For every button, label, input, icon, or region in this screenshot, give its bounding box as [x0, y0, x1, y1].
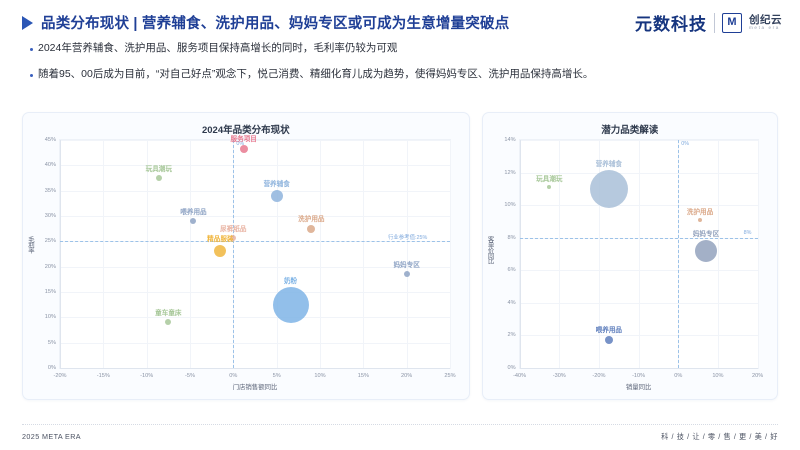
gridline-vertical [147, 140, 148, 368]
chart-card-distribution: 2024年品类分布现状 -20%-15%-10%-5%0%5%10%15%20%… [22, 112, 470, 400]
data-point-label: 洗护用品 [687, 206, 713, 216]
data-bubble [605, 336, 613, 344]
x-tick-label: 5% [273, 373, 281, 379]
reference-line-vertical [233, 140, 234, 368]
data-bubble [271, 190, 283, 202]
y-axis-line [60, 140, 61, 368]
data-bubble [590, 170, 628, 208]
x-tick-label: -20% [592, 373, 605, 379]
gridline-horizontal [60, 191, 450, 192]
data-point-label: 喂养用品 [180, 206, 206, 216]
y-tick-label: 40% [30, 162, 56, 168]
x-tick-label: -15% [97, 373, 110, 379]
data-point-label: 服务项目 [231, 133, 257, 143]
gridline-horizontal [520, 303, 758, 304]
triangle-right-icon [22, 16, 33, 30]
data-point-label: 尿裤纸品 [220, 223, 246, 233]
data-bubble [307, 225, 315, 233]
data-point-label: 玩具潮玩 [536, 173, 562, 183]
x-tick-label: -10% [632, 373, 645, 379]
reference-line-label: 8% [744, 230, 752, 236]
x-axis-title: 门店销售额同比 [233, 382, 278, 391]
chart-cards: 2024年品类分布现状 -20%-15%-10%-5%0%5%10%15%20%… [22, 112, 778, 400]
brand-logo: 元数科技 M 创纪云 meta era [635, 10, 782, 35]
data-point-label: 玩具潮玩 [146, 163, 172, 173]
y-tick-label: 10% [30, 314, 56, 320]
chart-title: 潜力品类解读 [483, 122, 777, 136]
gridline-vertical [639, 140, 640, 368]
x-tick-label: 25% [444, 373, 455, 379]
bullet-dot-icon [30, 74, 33, 77]
gridline-vertical [103, 140, 104, 368]
logo-sub-en: meta era [749, 26, 782, 31]
y-tick-label: 35% [30, 188, 56, 194]
data-bubble [273, 287, 309, 323]
data-point-label: 精品服装 [207, 233, 233, 243]
gridline-horizontal [60, 343, 450, 344]
data-point-label: 营养辅食 [263, 178, 289, 188]
gridline-horizontal [60, 292, 450, 293]
data-point-label: 妈妈专区 [693, 228, 719, 238]
gridline-vertical [320, 140, 321, 368]
y-tick-label: 5% [30, 340, 56, 346]
y-tick-label: 2% [490, 332, 516, 338]
reference-line-horizontal [520, 238, 758, 239]
scatter-plot-potential: -40%-30%-20%-10%0%10%20%0%2%4%6%8%10%12%… [519, 139, 759, 369]
title-row: 品类分布现状 | 营养辅食、洗护用品、妈妈专区或可成为生意增量突破点 [22, 12, 509, 33]
gridline-vertical [718, 140, 719, 368]
y-axis-title: 毛利率 [26, 236, 35, 252]
logo-divider [714, 13, 715, 33]
logo-sub: 创纪云 meta era [749, 15, 782, 31]
gridline-horizontal [520, 335, 758, 336]
y-tick-label: 45% [30, 137, 56, 143]
logo-company-name: 元数科技 [635, 10, 707, 35]
y-tick-label: 14% [490, 137, 516, 143]
x-tick-label: 20% [401, 373, 412, 379]
gridline-horizontal [60, 267, 450, 268]
reference-line-vertical [678, 140, 679, 368]
gridline-horizontal [60, 317, 450, 318]
bullet-list: 2024年营养辅食、洗护用品、服务项目保持高增长的同时，毛利率仍较为可观 随着9… [30, 41, 770, 93]
bullet-text: 随着95、00后成为目前，“对自己好点”观念下，悦己消费、精细化育儿成为趋势，使… [38, 67, 593, 83]
data-bubble [190, 218, 196, 224]
y-tick-label: 20% [30, 264, 56, 270]
y-tick-label: 4% [490, 300, 516, 306]
y-tick-label: 0% [490, 365, 516, 371]
data-bubble [698, 218, 702, 222]
data-point-label: 奶粉 [284, 275, 297, 285]
bullet-text: 2024年营养辅食、洗护用品、服务项目保持高增长的同时，毛利率仍较为可观 [38, 41, 397, 57]
data-point-label: 喂养用品 [596, 324, 622, 334]
data-bubble [404, 271, 410, 277]
page-title: 品类分布现状 | 营养辅食、洗护用品、妈妈专区或可成为生意增量突破点 [41, 12, 509, 33]
gridline-vertical [363, 140, 364, 368]
gridline-horizontal [520, 140, 758, 141]
data-bubble [156, 175, 162, 181]
meta-era-mark-icon: M [722, 13, 742, 33]
data-point-label: 洗护用品 [298, 213, 324, 223]
footer-divider [22, 424, 778, 425]
y-tick-label: 30% [30, 213, 56, 219]
gridline-horizontal [60, 216, 450, 217]
y-tick-label: 15% [30, 289, 56, 295]
reference-line-label: 行业参考值:25% [388, 233, 427, 241]
gridline-vertical [407, 140, 408, 368]
y-tick-label: 12% [490, 170, 516, 176]
bullet-item: 2024年营养辅食、洗护用品、服务项目保持高增长的同时，毛利率仍较为可观 [30, 41, 770, 57]
logo-sub-cn: 创纪云 [749, 15, 782, 26]
x-axis-line [520, 368, 758, 369]
footer-right-text: 科 / 技 / 让 / 零 / 售 / 更 / 美 / 好 [661, 432, 778, 442]
x-tick-label: -30% [553, 373, 566, 379]
data-point-label: 营养辅食 [596, 158, 622, 168]
gridline-vertical [277, 140, 278, 368]
y-tick-label: 6% [490, 267, 516, 273]
bullet-dot-icon [30, 48, 33, 51]
x-tick-label: 0% [229, 373, 237, 379]
reference-line-horizontal [60, 241, 450, 242]
data-point-label: 童车童床 [155, 307, 181, 317]
gridline-vertical [450, 140, 451, 368]
x-tick-label: -20% [53, 373, 66, 379]
gridline-vertical [190, 140, 191, 368]
gridline-horizontal [520, 270, 758, 271]
gridline-horizontal [60, 165, 450, 166]
y-tick-label: 0% [30, 365, 56, 371]
y-axis-title: 客单价同比 [486, 236, 495, 263]
x-tick-label: 20% [752, 373, 763, 379]
reference-line-label: 0% [681, 141, 689, 147]
scatter-plot-distribution: -20%-15%-10%-5%0%5%10%15%20%25%0%5%10%15… [59, 139, 451, 369]
x-tick-label: 0% [674, 373, 682, 379]
x-tick-label: 10% [314, 373, 325, 379]
data-bubble [695, 240, 717, 262]
y-tick-label: 10% [490, 202, 516, 208]
footer-left-text: 2025 META ERA [22, 432, 81, 441]
chart-card-potential: 潜力品类解读 -40%-30%-20%-10%0%10%20%0%2%4%6%8… [482, 112, 778, 400]
x-tick-label: -10% [140, 373, 153, 379]
x-tick-label: -40% [513, 373, 526, 379]
data-bubble [214, 245, 226, 257]
page-header: 品类分布现状 | 营养辅食、洗护用品、妈妈专区或可成为生意增量突破点 元数科技 … [0, 0, 800, 40]
data-point-label: 妈妈专区 [393, 259, 419, 269]
gridline-horizontal [520, 205, 758, 206]
x-axis-line [60, 368, 450, 369]
x-tick-label: 15% [358, 373, 369, 379]
data-bubble [547, 185, 551, 189]
x-tick-label: -5% [185, 373, 195, 379]
data-bubble [240, 145, 248, 153]
gridline-vertical [758, 140, 759, 368]
x-tick-label: 10% [712, 373, 723, 379]
data-bubble [165, 319, 171, 325]
bullet-item: 随着95、00后成为目前，“对自己好点”观念下，悦己消费、精细化育儿成为趋势，使… [30, 67, 770, 83]
x-axis-title: 销量同比 [626, 382, 652, 391]
y-axis-line [520, 140, 521, 368]
